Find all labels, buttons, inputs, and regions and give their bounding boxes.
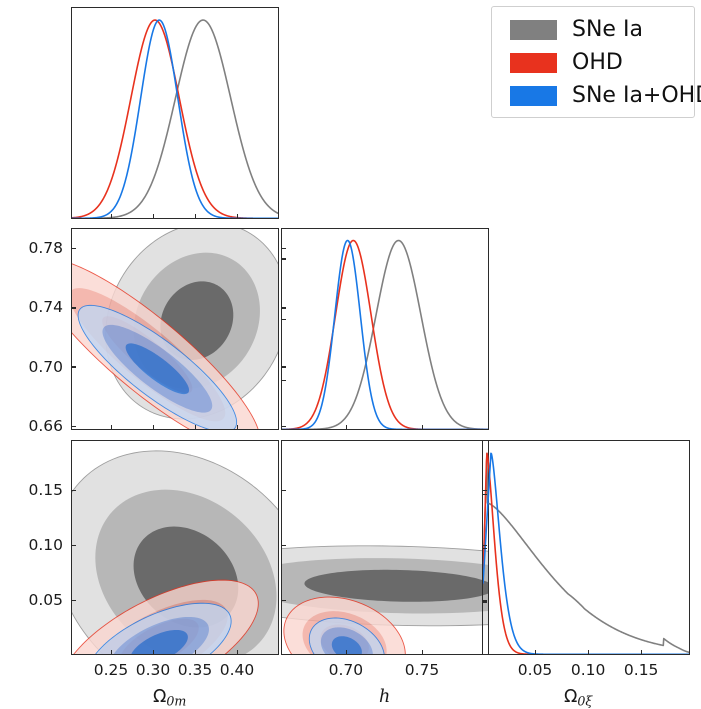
xtick-Om-3 xyxy=(237,650,238,655)
ytick-Oxi-2 xyxy=(71,490,76,491)
xtick-Om-0 xyxy=(111,214,112,219)
yticklabel-Oxi-0: 0.05 xyxy=(17,593,63,609)
ytick-inner-h-1-3 xyxy=(281,248,286,249)
xticklabel-Om-1: 0.30 xyxy=(132,663,174,679)
axis-title-omega0xi: Ω0ξ xyxy=(564,689,592,708)
legend-item-sne-ia: SNe Ia xyxy=(510,19,643,41)
xtick-Om-2 xyxy=(195,650,196,655)
xtick-Om-0 xyxy=(111,425,112,430)
panel-omega0xi-marginal xyxy=(482,440,690,655)
ytick-Oxi-0 xyxy=(71,600,76,601)
corner-plot-figure: 0.250.300.350.400.700.750.050.100.150.66… xyxy=(0,0,701,701)
xtick-Om-1 xyxy=(153,425,154,430)
ytick-inner-Oxi-1-2 xyxy=(281,490,286,491)
panel-h-marginal xyxy=(281,228,489,430)
panel-omega0m-vs-omega0xi xyxy=(71,440,279,655)
xtick-Om-3 xyxy=(237,214,238,219)
yticklabel-h-1: 0.70 xyxy=(17,360,63,376)
ytick-inner-Oxi-2-1 xyxy=(482,545,487,546)
xtick-Om-2 xyxy=(195,425,196,430)
xtick-Om-1 xyxy=(153,214,154,219)
ytick-dens-h-2 xyxy=(281,258,286,259)
ytick-inner-Oxi-1-0 xyxy=(281,600,286,601)
xtick-Om-2 xyxy=(195,214,196,219)
legend-label-sne-ia-ohd: SNe Ia+OHD xyxy=(572,85,701,107)
axis-title-h: h xyxy=(379,689,390,707)
ytick-h-3 xyxy=(71,248,76,249)
xtick-Oxi-2 xyxy=(641,650,642,655)
xtick-Oxi-0 xyxy=(535,650,536,655)
xticklabel-h-0: 0.70 xyxy=(325,663,367,679)
ytick-Oxi-1 xyxy=(71,545,76,546)
yticklabel-Oxi-2: 0.15 xyxy=(17,483,63,499)
ytick-inner-Oxi-1-1 xyxy=(281,545,286,546)
xticklabel-Om-0: 0.25 xyxy=(90,663,132,679)
xticklabel-Om-3: 0.40 xyxy=(216,663,258,679)
xtick-Om-1 xyxy=(153,650,154,655)
panel-h-vs-omega0xi xyxy=(281,440,489,655)
ytick-dens-2 xyxy=(482,494,487,495)
ytick-h-2 xyxy=(71,307,76,308)
legend-label-ohd: OHD xyxy=(572,52,623,74)
xticklabel-Oxi-0: 0.05 xyxy=(514,663,556,679)
ytick-dens-1 xyxy=(482,548,487,549)
xticklabel-Om-2: 0.35 xyxy=(174,663,216,679)
xticklabel-Oxi-2: 0.15 xyxy=(620,663,662,679)
xtick-h-0 xyxy=(346,650,347,655)
ytick-h-1 xyxy=(71,366,76,367)
axis-title-omega0m: Ω0m xyxy=(153,689,186,708)
yticklabel-h-3: 0.78 xyxy=(17,241,63,257)
legend-swatch-sne-ia-ohd xyxy=(510,86,557,106)
xticklabel-h-1: 0.75 xyxy=(401,663,443,679)
yticklabel-h-2: 0.74 xyxy=(17,300,63,316)
legend-item-sne-ia-ohd: SNe Ia+OHD xyxy=(510,85,701,107)
ytick-inner-h-1-2 xyxy=(281,307,286,308)
xtick-h-1 xyxy=(422,650,423,655)
legend-swatch-ohd xyxy=(510,53,557,73)
xtick-Om-3 xyxy=(237,425,238,430)
ytick-h-0 xyxy=(71,426,76,427)
yticklabel-Oxi-1: 0.10 xyxy=(17,538,63,554)
panel-omega0m-marginal xyxy=(71,7,279,219)
panel-omega0m-vs-h xyxy=(71,228,279,430)
ytick-dens-h-0 xyxy=(281,380,286,381)
yticklabel-h-0: 0.66 xyxy=(17,419,63,435)
legend-swatch-sne-ia xyxy=(510,20,557,40)
xticklabel-Oxi-1: 0.10 xyxy=(567,663,609,679)
xtick-Oxi-1 xyxy=(588,650,589,655)
ytick-dens-0 xyxy=(482,601,487,602)
ytick-inner-h-1-1 xyxy=(281,366,286,367)
ytick-dens-h-1 xyxy=(281,319,286,320)
xtick-Om-0 xyxy=(111,650,112,655)
xtick-h-1 xyxy=(422,425,423,430)
legend-label-sne-ia: SNe Ia xyxy=(572,19,643,41)
legend-item-ohd: OHD xyxy=(510,52,623,74)
xtick-h-0 xyxy=(346,425,347,430)
ytick-inner-Oxi-2-2 xyxy=(482,490,487,491)
ytick-inner-h-1-0 xyxy=(281,426,286,427)
legend-box: SNe Ia OHD SNe Ia+OHD xyxy=(491,6,695,118)
